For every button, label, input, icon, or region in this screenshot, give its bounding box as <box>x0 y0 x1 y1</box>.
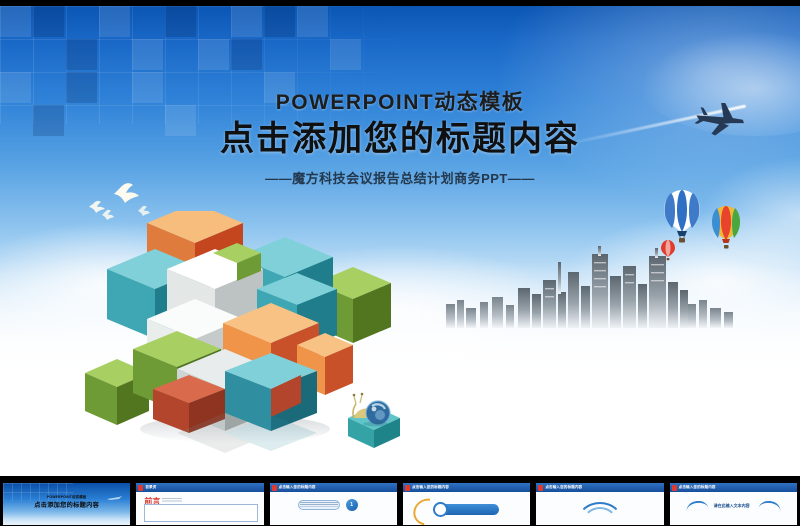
thumb5-bar-title: 点击输入您的标题内容 <box>545 485 582 490</box>
thumb2-text-lines <box>162 498 182 503</box>
thumb3-badge <box>346 499 358 511</box>
thumb4-logo-icon <box>405 485 410 491</box>
thumb2-bar-title: 目录页 <box>145 485 156 490</box>
thumb4-bar-title: 点击输入您的标题内容 <box>412 485 449 490</box>
city-skyline-icon <box>440 242 740 328</box>
balloon-striped-icon <box>662 188 702 244</box>
thumb6-arc-right <box>758 500 781 512</box>
thumb2-content-box <box>144 504 257 522</box>
thumb3-body <box>270 492 397 525</box>
letterbox-bottom-bar <box>0 476 800 482</box>
thumb6-heading: 请在此输入文本内容 <box>714 503 750 509</box>
thumbnail-5[interactable]: 点击输入您的标题内容 <box>533 482 666 526</box>
thumbnail-4[interactable]: 点击输入您的标题内容 <box>400 482 533 526</box>
thumb3-logo-icon <box>272 485 277 491</box>
thumb1-plane-icon <box>106 491 124 505</box>
snail-on-cube-icon <box>332 388 416 452</box>
thumb2-title-bar: 目录页 <box>136 483 263 492</box>
thumb3-bar-title: 点击输入您的标题内容 <box>279 485 316 490</box>
screenshot-root: POWERPOINT动态模板 点击添加您的标题内容 ——魔方科技会议报告总结计划… <box>0 0 800 526</box>
letterbox-top-bar <box>0 0 800 6</box>
thumb4-body <box>403 492 530 525</box>
thumb2-body: 前言 <box>136 492 263 525</box>
thumb6-bar-title: 点击输入您的标题内容 <box>679 485 716 490</box>
thumbnail-6[interactable]: 点击输入您的标题内容 请在此输入文本内容 <box>667 482 800 526</box>
thumbnail-1[interactable]: POWERPOINT动态模板 点击添加您的标题内容 <box>0 482 133 526</box>
thumb6-logo-icon <box>672 485 677 491</box>
thumb5-body <box>536 492 663 525</box>
balloon-multicolor-icon <box>710 204 742 250</box>
eyebrow-text: POWERPOINT动态模板 <box>0 90 800 115</box>
main-slide-preview[interactable]: POWERPOINT动态模板 点击添加您的标题内容 ——魔方科技会议报告总结计划… <box>0 6 800 476</box>
thumb3-title-bar: 点击输入您的标题内容 <box>270 483 397 492</box>
page-title: 点击添加您的标题内容 <box>0 120 800 159</box>
thumb6-body: 请在此输入文本内容 <box>670 492 797 525</box>
thumb5-logo-icon <box>538 485 543 491</box>
thumb5-title-bar: 点击输入您的标题内容 <box>536 483 663 492</box>
subtitle-text: ——魔方科技会议报告总结计划商务PPT—— <box>0 168 800 187</box>
thumbnail-3[interactable]: 点击输入您的标题内容 <box>267 482 400 526</box>
title-block: POWERPOINT动态模板 点击添加您的标题内容 ——魔方科技会议报告总结计划… <box>0 90 800 187</box>
snail-shell <box>366 401 390 425</box>
thumb6-arc-left <box>685 500 708 512</box>
thumb4-title-bar: 点击输入您的标题内容 <box>403 483 530 492</box>
thumb3-pill-lines <box>300 502 338 507</box>
thumbnail-2[interactable]: 目录页 前言 <box>133 482 266 526</box>
thumb6-title-bar: 点击输入您的标题内容 <box>670 483 797 492</box>
thumb2-logo-icon <box>138 485 143 491</box>
thumb4-ring-shape <box>433 502 448 517</box>
balloon-small-red-icon <box>660 239 676 261</box>
thumbnail-strip: POWERPOINT动态模板 点击添加您的标题内容 目录页 前言 <box>0 482 800 526</box>
